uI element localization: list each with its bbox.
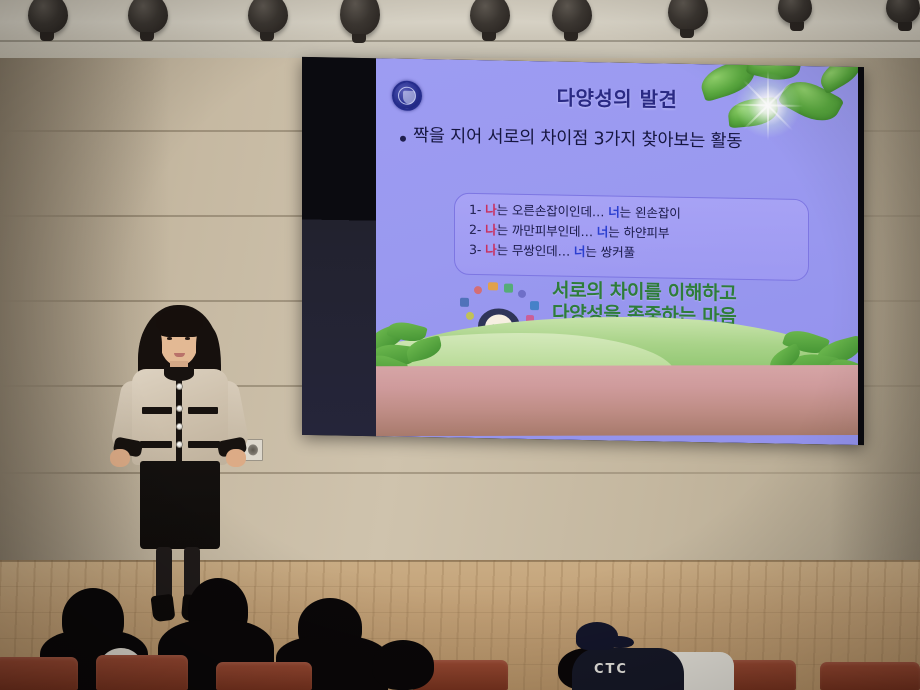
stage-spotlight — [128, 0, 168, 34]
list-item-you: 너 — [597, 224, 608, 239]
list-item-me: 나 — [485, 202, 496, 217]
auditorium-seat — [0, 657, 78, 690]
presenter-hand-left — [110, 449, 130, 467]
presenter-jacket-button — [176, 383, 183, 390]
list-item-number: 3- — [469, 242, 481, 257]
presenter-jacket-pocket — [140, 441, 172, 448]
list-item-tail: 는 왼손잡이 — [620, 205, 681, 221]
list-item-tail: 는 하얀피부 — [608, 224, 669, 240]
doodle-icon — [466, 312, 474, 320]
audience-cap-brim-icon — [606, 636, 634, 648]
auditorium-seat — [216, 662, 312, 690]
doodle-icon — [504, 284, 513, 293]
stage-spotlight — [886, 0, 920, 24]
screen-letterbox-left — [302, 57, 376, 436]
presenter-jacket-button — [176, 441, 183, 448]
presenter-skirt — [140, 461, 220, 549]
list-item-you: 너 — [608, 204, 619, 219]
presenter-jacket-button — [176, 405, 183, 412]
presenter-eye — [185, 337, 190, 340]
auditorium-photo: 다양성의 발견 짝을 지어 서로의 차이점 3가지 찾아보는 활동 1- 나는 … — [0, 0, 920, 690]
list-item-me: 나 — [485, 222, 496, 237]
presenter-hand-right — [226, 449, 246, 467]
list-item-number: 1- — [469, 202, 481, 217]
screen-letterbox-right — [858, 67, 864, 445]
auditorium-seat — [820, 662, 920, 690]
stage-spotlight — [470, 0, 510, 34]
slide-bullet-text: 짝을 지어 서로의 차이점 3가지 찾아보는 활동 — [413, 125, 742, 154]
ceiling — [0, 0, 920, 58]
stage-spotlight — [778, 0, 812, 24]
doodle-icon — [530, 301, 539, 310]
audience-varsity-jacket — [572, 648, 684, 690]
list-item-tail: 는 쌍커풀 — [585, 244, 635, 260]
list-item-me: 나 — [485, 242, 496, 257]
doodle-icon — [474, 286, 482, 294]
list-item-you: 너 — [574, 244, 585, 259]
ground-graphic — [376, 365, 858, 436]
stage-spotlight — [248, 0, 288, 34]
auditorium-seat — [96, 655, 188, 690]
presenter-boot-left — [150, 594, 175, 622]
projection-screen: 다양성의 발견 짝을 지어 서로의 차이점 3가지 찾아보는 활동 1- 나는 … — [302, 57, 864, 445]
stage-spotlight — [552, 0, 592, 34]
ceiling-seam — [0, 40, 920, 42]
presenter-jacket-pocket — [188, 407, 218, 414]
list-item-number: 2- — [469, 222, 481, 237]
audience-varsity-text: CTC — [594, 662, 628, 677]
doodle-icon — [488, 282, 498, 290]
presenter-speaker — [108, 303, 258, 615]
presentation-slide: 다양성의 발견 짝을 지어 서로의 차이점 3가지 찾아보는 활동 1- 나는 … — [376, 58, 858, 445]
bullet-dot-icon — [400, 136, 406, 142]
presenter-jacket-pocket — [142, 407, 172, 414]
presenter-eye — [167, 337, 172, 340]
list-item-middle: 는 오른손잡이인데… — [497, 202, 605, 219]
presenter-jacket-pocket — [188, 441, 220, 448]
doodle-icon — [460, 298, 469, 307]
stage-spotlight — [28, 0, 68, 34]
list-item-middle: 는 무쌍인데… — [497, 242, 570, 258]
presenter-jacket-button — [176, 423, 183, 430]
audience-head — [372, 640, 434, 690]
stage-spotlight — [668, 0, 708, 31]
list-item-middle: 는 까만피부인데… — [497, 222, 593, 239]
stage-spotlight — [340, 0, 380, 36]
example-list-box: 1- 나는 오른손잡이인데… 너는 왼손잡이 2- 나는 까만피부인데… 너는 … — [454, 193, 809, 282]
doodle-icon — [518, 290, 526, 298]
presenter-hair-front — [156, 309, 203, 337]
